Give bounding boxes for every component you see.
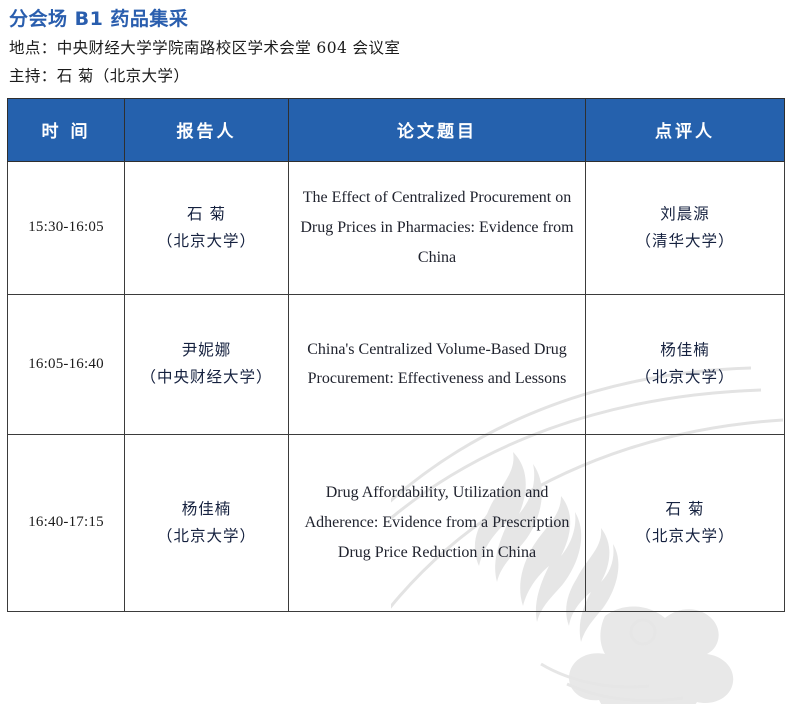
table-row: 16:05-16:40 尹妮娜 （中央财经大学） China's Central…: [8, 294, 785, 434]
schedule-table: 时 间 报告人 论文题目 点评人 15:30-16:05 石 菊 （北京大学） …: [7, 98, 785, 612]
cell-discussant: 杨佳楠 （北京大学）: [586, 294, 785, 434]
column-header-presenter: 报告人: [125, 98, 289, 161]
schedule-table-container: 时 间 报告人 论文题目 点评人 15:30-16:05 石 菊 （北京大学） …: [7, 98, 784, 612]
discussant-name: 石 菊: [586, 496, 784, 523]
column-header-paper: 论文题目: [289, 98, 586, 161]
cell-presenter: 杨佳楠 （北京大学）: [125, 434, 289, 611]
table-row: 15:30-16:05 石 菊 （北京大学） The Effect of Cen…: [8, 161, 785, 294]
presenter-affiliation: （北京大学）: [125, 228, 288, 255]
table-header-row: 时 间 报告人 论文题目 点评人: [8, 98, 785, 161]
discussant-affiliation: （北京大学）: [586, 364, 784, 391]
table-row: 16:40-17:15 杨佳楠 （北京大学） Drug Affordabilit…: [8, 434, 785, 611]
cell-time: 16:05-16:40: [8, 294, 125, 434]
cell-paper-title: China's Centralized Volume-Based Drug Pr…: [289, 294, 586, 434]
column-header-time: 时 间: [8, 98, 125, 161]
cell-presenter: 石 菊 （北京大学）: [125, 161, 289, 294]
location-line: 地点：中央财经大学学院南路校区学术会堂 604 会议室: [9, 41, 791, 57]
discussant-name: 杨佳楠: [586, 337, 784, 364]
session-header: 分会场 B1 药品集采 地点：中央财经大学学院南路校区学术会堂 604 会议室 …: [0, 0, 791, 85]
discussant-affiliation: （清华大学）: [586, 228, 784, 255]
cell-time: 15:30-16:05: [8, 161, 125, 294]
chair-line: 主持：石 菊（北京大学）: [9, 69, 791, 85]
cell-paper-title: The Effect of Centralized Procurement on…: [289, 161, 586, 294]
presenter-name: 尹妮娜: [125, 337, 288, 364]
cell-paper-title: Drug Affordability, Utilization and Adhe…: [289, 434, 586, 611]
discussant-name: 刘晨源: [586, 201, 784, 228]
column-header-discussant: 点评人: [586, 98, 785, 161]
presenter-affiliation: （北京大学）: [125, 523, 288, 550]
discussant-affiliation: （北京大学）: [586, 523, 784, 550]
presenter-name: 石 菊: [125, 201, 288, 228]
cell-presenter: 尹妮娜 （中央财经大学）: [125, 294, 289, 434]
presenter-name: 杨佳楠: [125, 496, 288, 523]
page-title: 分会场 B1 药品集采: [9, 8, 791, 32]
cell-discussant: 刘晨源 （清华大学）: [586, 161, 785, 294]
presenter-affiliation: （中央财经大学）: [125, 364, 288, 391]
cell-time: 16:40-17:15: [8, 434, 125, 611]
cell-discussant: 石 菊 （北京大学）: [586, 434, 785, 611]
